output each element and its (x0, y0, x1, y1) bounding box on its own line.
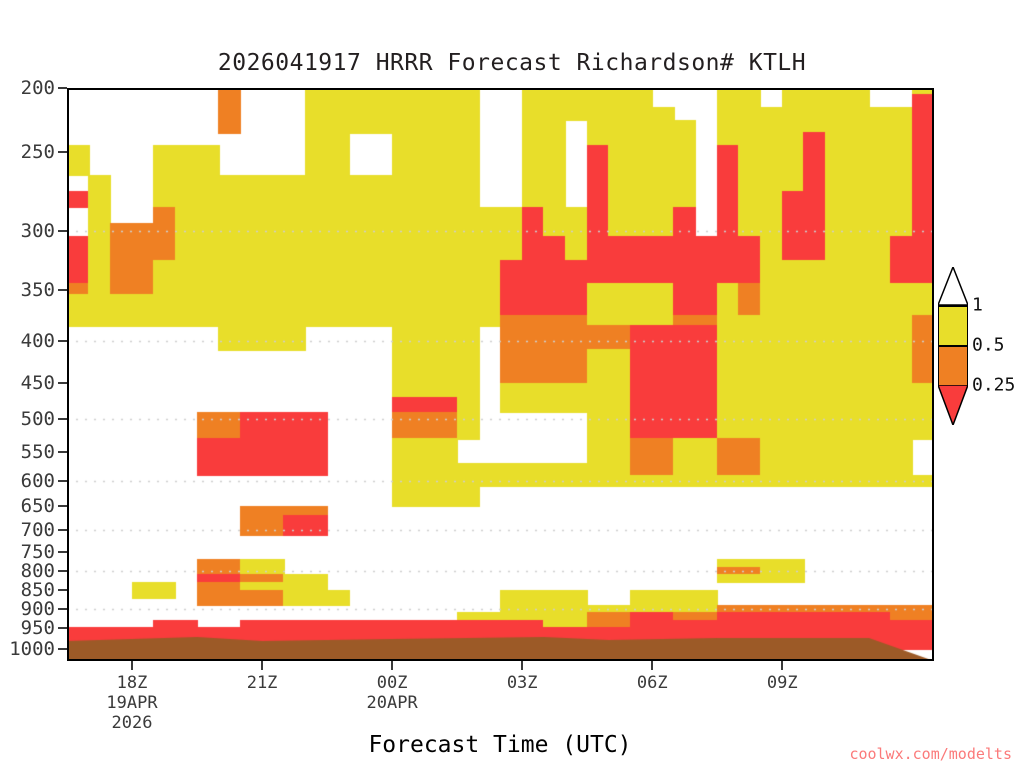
x-tick-mark (391, 661, 393, 670)
y-tick-mark (58, 529, 67, 531)
colorbar-divider (938, 345, 968, 347)
y-tick-mark (58, 382, 67, 384)
colorbar-tick-label: 1 (972, 295, 983, 316)
y-tick-mark (58, 589, 67, 591)
credit-watermark: coolwx.com/modelts (849, 745, 1012, 763)
y-tick-mark (58, 418, 67, 420)
heatmap-canvas[interactable] (67, 88, 934, 661)
y-tick-mark (58, 230, 67, 232)
x-tick-mark (521, 661, 523, 670)
y-tick-mark (58, 340, 67, 342)
y-tick-mark (58, 289, 67, 291)
colorbar-tick-label: 0.5 (972, 335, 1005, 356)
y-tick-label: 500 (21, 408, 55, 430)
x-tick-label: 09Z (767, 673, 798, 693)
plot-area[interactable] (67, 88, 934, 661)
colorbar-extend-top-outline (938, 267, 968, 305)
x-tick-mark (261, 661, 263, 670)
x-tick-mark (131, 661, 133, 670)
y-tick-mark (58, 608, 67, 610)
y-tick-label: 350 (21, 279, 55, 301)
colorbar-extend-bottom (938, 385, 968, 425)
x-tick-mark (651, 661, 653, 670)
colorbar-divider (938, 305, 968, 307)
y-tick-label: 450 (21, 372, 55, 394)
y-tick-label: 550 (21, 441, 55, 463)
x-tick-label: 00Z20APR (367, 673, 418, 713)
chart-title: 2026041917 HRRR Forecast Richardson# KTL… (0, 50, 1024, 76)
x-tick-label: 21Z (247, 673, 278, 693)
y-tick-label: 1000 (9, 638, 55, 660)
x-tick-label: 03Z (507, 673, 538, 693)
y-tick-label: 250 (21, 141, 55, 163)
colorbar[interactable]: 10.50.25 (938, 305, 968, 425)
colorbar-tick-label: 0.25 (972, 375, 1015, 396)
y-tick-label: 650 (21, 495, 55, 517)
y-tick-mark (58, 648, 67, 650)
y-tick-mark (58, 570, 67, 572)
y-tick-mark (58, 627, 67, 629)
y-tick-label: 200 (21, 77, 55, 99)
x-tick-label: 18Z19APR2026 (106, 673, 157, 733)
y-tick-mark (58, 551, 67, 553)
y-tick-label: 950 (21, 617, 55, 639)
colorbar-segment (938, 305, 968, 345)
y-tick-mark (58, 505, 67, 507)
x-tick-label: 06Z (637, 673, 668, 693)
y-tick-label: 400 (21, 330, 55, 352)
y-tick-mark (58, 87, 67, 89)
y-axis: 2002503003504004505005506006507007508008… (0, 88, 67, 661)
x-axis-title: Forecast Time (UTC) (140, 732, 860, 758)
y-tick-label: 700 (21, 519, 55, 541)
colorbar-segment (938, 345, 968, 385)
y-tick-mark (58, 451, 67, 453)
y-tick-label: 300 (21, 220, 55, 242)
x-tick-mark (781, 661, 783, 670)
y-tick-mark (58, 151, 67, 153)
y-tick-label: 600 (21, 470, 55, 492)
y-tick-mark (58, 480, 67, 482)
